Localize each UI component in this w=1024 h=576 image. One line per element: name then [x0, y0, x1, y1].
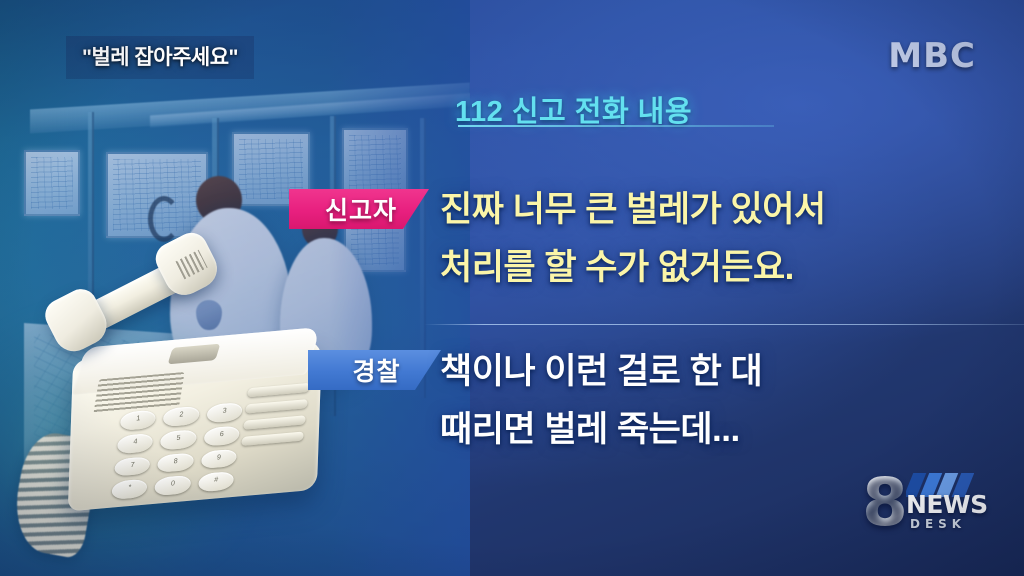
program-logo-8-news-desk: 8 NEWS DESK — [862, 470, 974, 542]
telephone-key: 1 — [119, 410, 156, 431]
quote-reporter: 진짜 너무 큰 벌레가 있어서 처리를 할 수가 없거든요. — [440, 181, 826, 297]
telephone-function-key — [243, 415, 306, 430]
handset-grill — [175, 250, 207, 280]
telephone-key: 0 — [154, 475, 191, 496]
telephone-key: 2 — [163, 406, 200, 427]
desk-telephone: 123456789*0# — [18, 258, 338, 558]
quote-police: 책이나 이런 걸로 한 대 때리면 벌레 죽는데... — [440, 343, 762, 459]
quote-line: 처리를 할 수가 없거든요. — [440, 239, 826, 297]
handset-earpiece — [40, 284, 114, 358]
telephone-function-key — [245, 399, 308, 414]
mbc-logo: MBC — [888, 36, 976, 76]
quote-line: 때리면 벌레 죽는데... — [440, 401, 762, 459]
telephone-key: 4 — [117, 433, 154, 454]
telephone-key: * — [111, 479, 148, 500]
logo-news-text: NEWS — [906, 492, 988, 517]
telephone-key: 9 — [200, 448, 237, 469]
logo-desk-text: DESK — [910, 518, 966, 530]
telephone-function-keys — [240, 383, 310, 455]
quote-line: 진짜 너무 큰 벌레가 있어서 — [440, 181, 826, 239]
telephone-key: 7 — [114, 456, 151, 477]
headline-underline — [458, 125, 774, 127]
telephone-key: 8 — [157, 452, 194, 473]
telephone-key: # — [197, 471, 234, 492]
telephone-key: 5 — [160, 429, 197, 450]
telephone-function-key — [241, 432, 304, 447]
topic-tag-label: "벌레 잡아주세요" — [82, 41, 238, 71]
telephone-keypad: 123456789*0# — [111, 402, 243, 500]
telephone-key: 3 — [206, 402, 243, 423]
logo-number-8: 8 — [862, 470, 908, 536]
topic-tag: "벌레 잡아주세요" — [66, 36, 254, 79]
quote-line: 책이나 이런 걸로 한 대 — [440, 343, 762, 401]
telephone-key: 6 — [203, 425, 240, 446]
section-divider — [424, 324, 1024, 325]
broadcast-news-frame: 123456789*0# "벌레 잡아주세요" MBC 112 신고 전화 내용… — [0, 0, 1024, 576]
page-title: 112 신고 전화 내용 — [455, 88, 692, 130]
